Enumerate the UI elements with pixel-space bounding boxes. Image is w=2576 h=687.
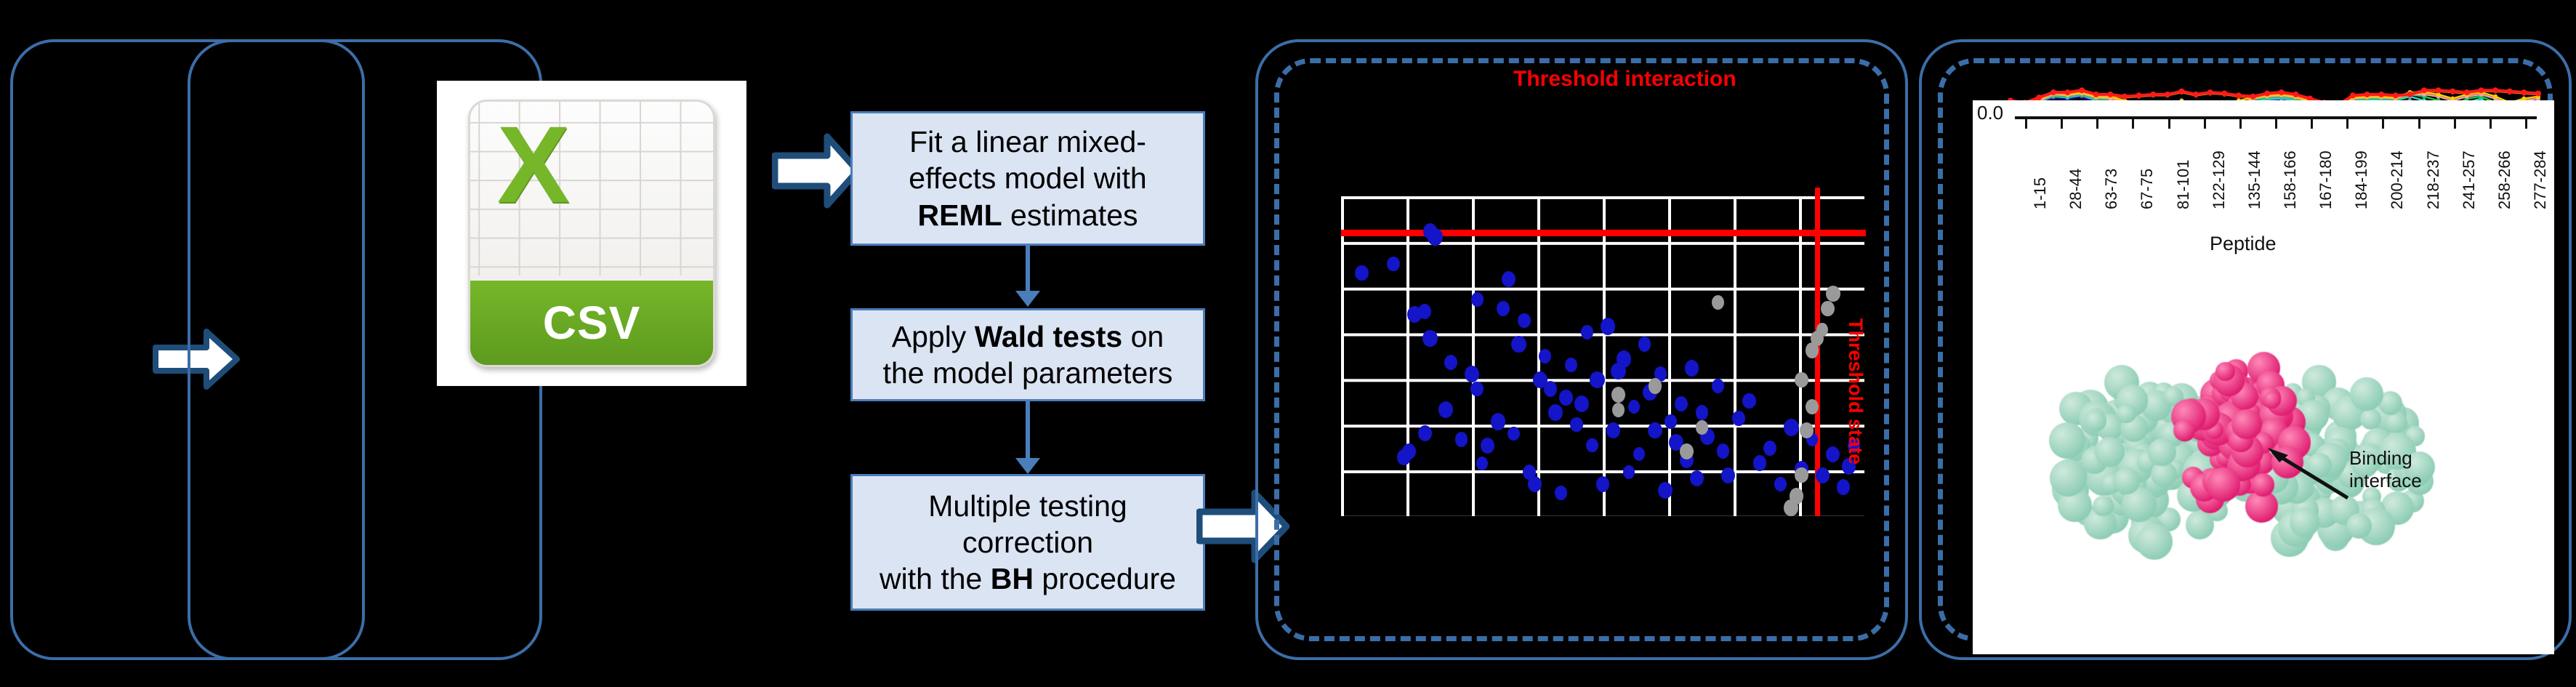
connector-wald-to-bh [1026, 401, 1030, 462]
peptide-tick-label: 277-284 [2531, 150, 2550, 209]
peptide-axis-caption: Peptide [2210, 233, 2277, 255]
line-marker [2293, 92, 2298, 97]
scatter-point [1784, 419, 1799, 436]
scatter-point [1491, 413, 1505, 430]
line-marker [2107, 92, 2113, 97]
line-marker [2079, 87, 2085, 93]
line-marker [2407, 92, 2412, 97]
line-marker [2036, 95, 2042, 100]
line-marker [2236, 92, 2242, 98]
scatter-point [1665, 414, 1677, 429]
scatter-point [1544, 381, 1557, 396]
scatter-point [1638, 337, 1651, 351]
scatter-point [1837, 479, 1850, 494]
line-marker [2122, 94, 2128, 100]
scatter-point [1387, 257, 1399, 271]
scatter-point [1481, 438, 1494, 454]
scatter-point [1685, 360, 1699, 377]
step-wald-text: Apply Wald tests onthe model parameters [883, 318, 1173, 391]
peptide-tick [2025, 119, 2027, 129]
scatter-point [1795, 467, 1808, 483]
scatter-point [1528, 476, 1542, 492]
scatter-point [1795, 372, 1808, 387]
connector-model-to-wald [1026, 246, 1030, 295]
line-marker [2393, 92, 2399, 98]
peptide-tick-label: 218-237 [2424, 150, 2443, 209]
line-marker [2492, 87, 2498, 93]
scatter-point [1601, 318, 1616, 335]
line-marker [2378, 92, 2384, 97]
peptide-tick-label: 241-257 [2460, 150, 2479, 209]
line-marker [2507, 89, 2513, 95]
line-marker [2479, 87, 2484, 93]
peptide-tick-label: 28-44 [2066, 169, 2085, 209]
step-model-text: Fit a linear mixed-effects model withREM… [909, 124, 1146, 233]
binding-interface-line1: Binding [2349, 447, 2422, 470]
scatter-point [1712, 379, 1724, 393]
scatter-title: Threshold interaction [1513, 67, 1736, 92]
scatter-point [1617, 350, 1632, 368]
scatter-point [1581, 325, 1593, 340]
peptide-tick [2490, 119, 2492, 129]
scatter-point [1548, 404, 1563, 421]
peptide-tick [2382, 119, 2384, 129]
peptide-tick-label: 67-75 [2138, 169, 2157, 209]
line-marker [2250, 94, 2256, 100]
line-marker [2264, 90, 2270, 96]
line-marker [2364, 92, 2370, 97]
peptide-tick [2346, 119, 2348, 129]
peptide-tick [2132, 119, 2134, 129]
peptide-tick [2239, 119, 2242, 129]
csv-extension-band: CSV [470, 281, 712, 365]
scatter-point [1690, 470, 1704, 486]
scatter-point [1471, 292, 1484, 307]
scatter-point [1502, 271, 1516, 287]
line-marker [2050, 89, 2056, 95]
line-marker [2279, 89, 2285, 95]
scatter-point [1596, 476, 1609, 491]
line-marker [2436, 87, 2442, 93]
scatter-point [1539, 349, 1551, 363]
y-axis-tick-0: 0.0 [1977, 102, 2003, 124]
scatter-point [1721, 467, 1735, 483]
step-model-box[interactable]: Fit a linear mixed-effects model withREM… [850, 111, 1205, 246]
line-marker [2493, 95, 2497, 99]
csv-card: X CSV [468, 100, 715, 367]
line-marker [2165, 92, 2170, 97]
line-marker [2464, 89, 2470, 95]
line-marker [2093, 92, 2099, 97]
threshold-interaction-line [1341, 230, 1866, 236]
scatter-point [1455, 432, 1468, 447]
scatter-point [1418, 425, 1432, 441]
line-marker [2178, 89, 2184, 95]
scatter-point [1675, 396, 1688, 411]
line-marker [2150, 92, 2156, 97]
workflow-figure: X CSV Fit a linear mixed-effects model w… [0, 0, 2576, 687]
peptide-tick-label: 122-129 [2210, 150, 2229, 209]
scatter-point [1418, 304, 1431, 319]
connector-arrowhead-2 [1015, 458, 1040, 474]
peptide-tick [2096, 119, 2098, 129]
scatter-point [1612, 403, 1625, 417]
scatter-point [1355, 265, 1369, 281]
csv-extension-label: CSV [543, 296, 641, 350]
peptide-tick-label: 81-101 [2174, 159, 2193, 209]
step-bh-box[interactable]: Multiple testingcorrectionwith the BH pr… [850, 474, 1205, 611]
threshold-state-label: Threshold state [1844, 318, 1867, 465]
scatter-point [1742, 393, 1755, 409]
peptide-tick [2204, 119, 2206, 129]
scatter-point [1658, 482, 1673, 499]
peptide-tick [2525, 119, 2527, 129]
step-bh-text: Multiple testingcorrectionwith the BH pr… [880, 488, 1176, 597]
line-marker [2450, 89, 2455, 95]
peptide-axis-block: 0.0 1-1528-4463-7367-7581-101122-129135-… [1973, 100, 2554, 246]
peptide-tick-label: 167-180 [2317, 150, 2335, 209]
peptide-tick-label: 258-266 [2495, 150, 2514, 209]
scatter-point [1586, 438, 1598, 452]
line-marker [2521, 89, 2527, 95]
scatter-point [1648, 422, 1662, 438]
scatter-point [1606, 422, 1620, 438]
line-marker [2064, 89, 2070, 95]
peptide-tick-label: 158-166 [2281, 150, 2300, 209]
line-marker [2207, 89, 2213, 95]
connector-arrowhead-1 [1015, 291, 1040, 307]
line-marker [2221, 90, 2227, 96]
line-marker [2421, 87, 2427, 93]
scatter-point [1422, 330, 1438, 347]
peptide-tick-label: 184-199 [2352, 150, 2371, 209]
binding-interface-line2: interface [2349, 470, 2422, 492]
line-marker [2193, 92, 2199, 97]
peptide-tick-label: 200-214 [2388, 150, 2407, 209]
peptide-tick [2418, 119, 2420, 129]
scatter-gridlines [1341, 196, 1864, 516]
scatter-point [1821, 301, 1835, 317]
peptide-tick [2275, 119, 2277, 129]
peptide-tick [2311, 119, 2313, 129]
peptide-tick [2454, 119, 2456, 129]
line-marker [2350, 92, 2356, 98]
scatter-point [1774, 477, 1787, 491]
peptide-tick [2061, 119, 2063, 129]
scatter-point [1790, 488, 1804, 505]
scatter-point [1444, 355, 1457, 370]
scatter-point [1574, 395, 1589, 412]
csv-x-letter: X [480, 113, 587, 244]
step-wald-box[interactable]: Apply Wald tests onthe model parameters [850, 308, 1205, 401]
scatter-point [1680, 443, 1694, 459]
scatter-point [1555, 486, 1567, 500]
binding-interface-label: Binding interface [2349, 447, 2422, 491]
scatter-point [1712, 295, 1724, 310]
line-marker [2136, 92, 2142, 98]
scatter-point [1816, 467, 1830, 483]
scatter-point [1518, 313, 1530, 328]
interaction-scatter-plot [1341, 196, 1864, 516]
peptide-tick-label: 1-15 [2031, 177, 2050, 209]
scatter-point [1696, 420, 1708, 435]
peptide-tick [2168, 119, 2170, 129]
scatter-point [1826, 286, 1840, 302]
line-marker [2535, 90, 2541, 96]
peptide-tick-label: 63-73 [2102, 169, 2121, 209]
scatter-point [1508, 427, 1519, 441]
csv-file-icon: X CSV [438, 81, 746, 385]
scatter-point [1649, 378, 1662, 394]
scatter-point [1570, 417, 1582, 432]
scatter-point [1428, 228, 1443, 246]
peptide-tick-label: 135-144 [2245, 150, 2264, 209]
scatter-point [1559, 390, 1573, 406]
